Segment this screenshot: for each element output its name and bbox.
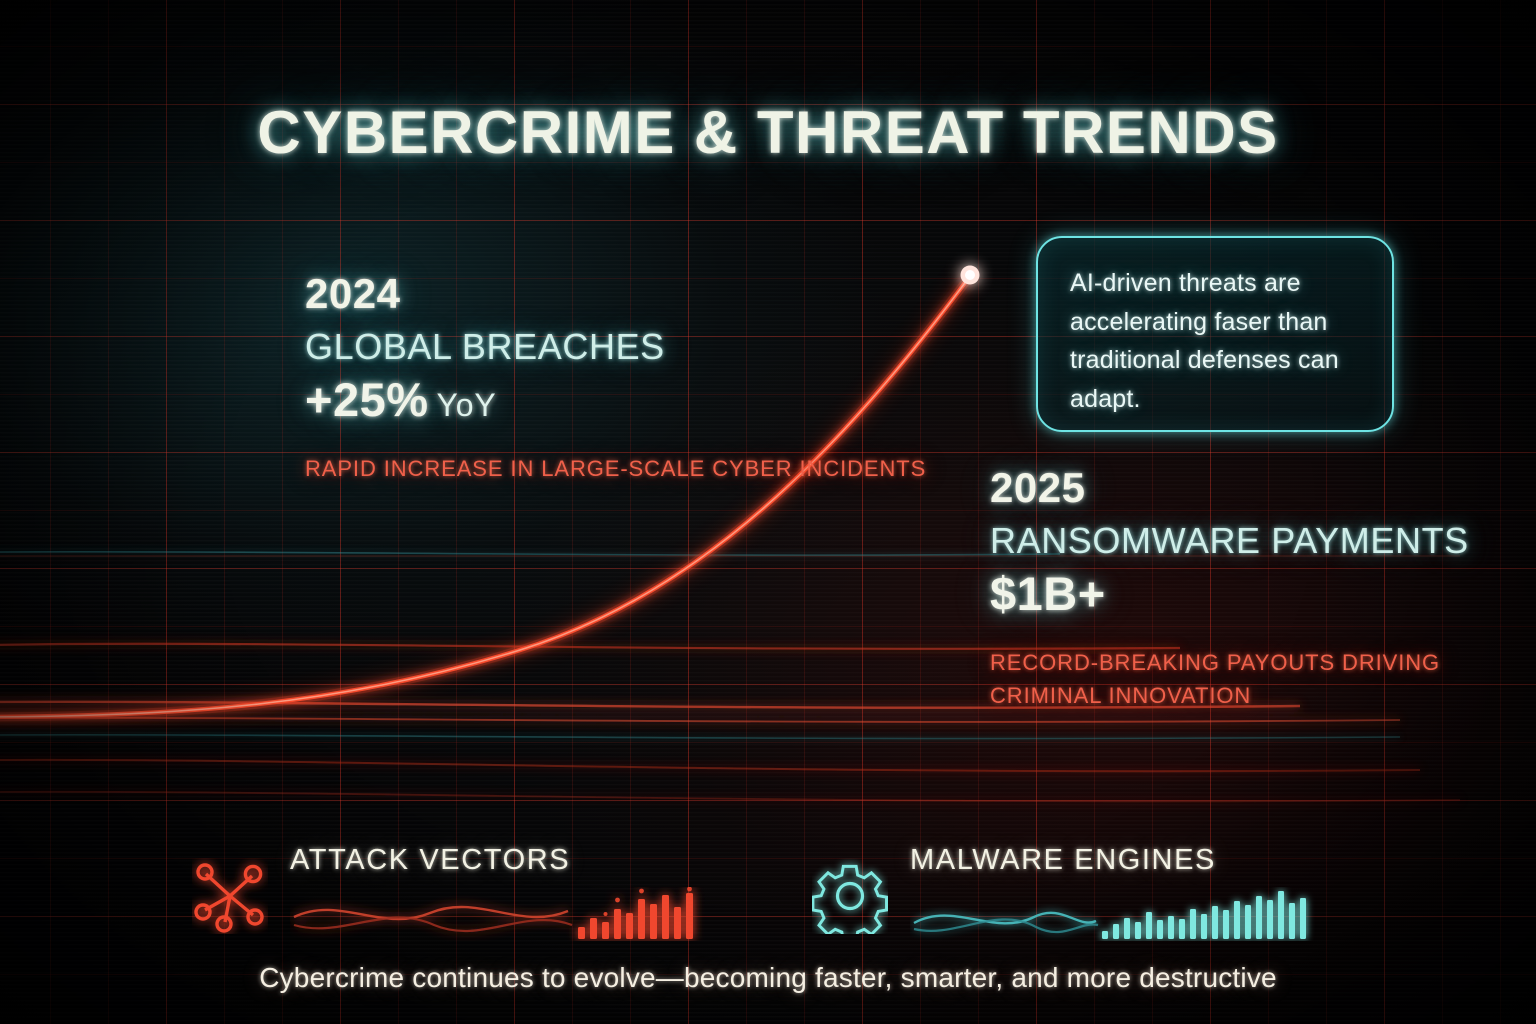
page-title: CYBERCRIME & THREAT TRENDS — [0, 98, 1536, 167]
stat-year: 2025 — [990, 466, 1536, 511]
legend-attack-vectors: ATTACK VECTORS — [192, 846, 710, 946]
curve-endpoint-marker — [961, 266, 980, 285]
legend-body: MALWARE ENGINES — [910, 846, 1370, 946]
stat-label: GLOBAL BREACHES — [305, 323, 926, 371]
legend-title: MALWARE ENGINES — [910, 846, 1370, 875]
legend-malware-engines: MALWARE ENGINES — [812, 846, 1370, 946]
stat-value-suffix: YoY — [437, 387, 497, 423]
stat-note: RECORD-BREAKING PAYOUTS DRIVING CRIMINAL… — [990, 646, 1536, 713]
callout-box: AI-driven threats are accelerating faser… — [1036, 236, 1394, 432]
legend-body: ATTACK VECTORS — [290, 846, 710, 946]
infographic-canvas: CYBERCRIME & THREAT TRENDS 2024 GLOBAL B… — [0, 0, 1536, 1024]
stat-note: RAPID INCREASE IN LARGE-SCALE CYBER INCI… — [305, 452, 926, 485]
stat-block-2024: 2024 GLOBAL BREACHES +25%YoY RAPID INCRE… — [305, 272, 926, 485]
stat-block-2025: 2025 RANSOMWARE PAYMENTS $1B+ RECORD-BRE… — [990, 466, 1536, 713]
stat-value: $1B+ — [990, 568, 1536, 620]
stat-year: 2024 — [305, 272, 926, 317]
stat-value-number: $1B+ — [990, 567, 1106, 620]
stat-value: +25%YoY — [305, 374, 926, 426]
malware-engines-sparkline — [910, 887, 1370, 941]
attack-vectors-sparkline — [290, 887, 710, 941]
gear-icon — [812, 858, 888, 934]
stat-label: RANSOMWARE PAYMENTS — [990, 517, 1536, 565]
callout-text: AI-driven threats are accelerating faser… — [1070, 264, 1364, 418]
footer-caption: Cybercrime continues to evolve—becoming … — [0, 962, 1536, 994]
stat-value-number: +25% — [305, 373, 429, 426]
legend-title: ATTACK VECTORS — [290, 846, 710, 875]
network-nodes-icon — [192, 858, 268, 934]
